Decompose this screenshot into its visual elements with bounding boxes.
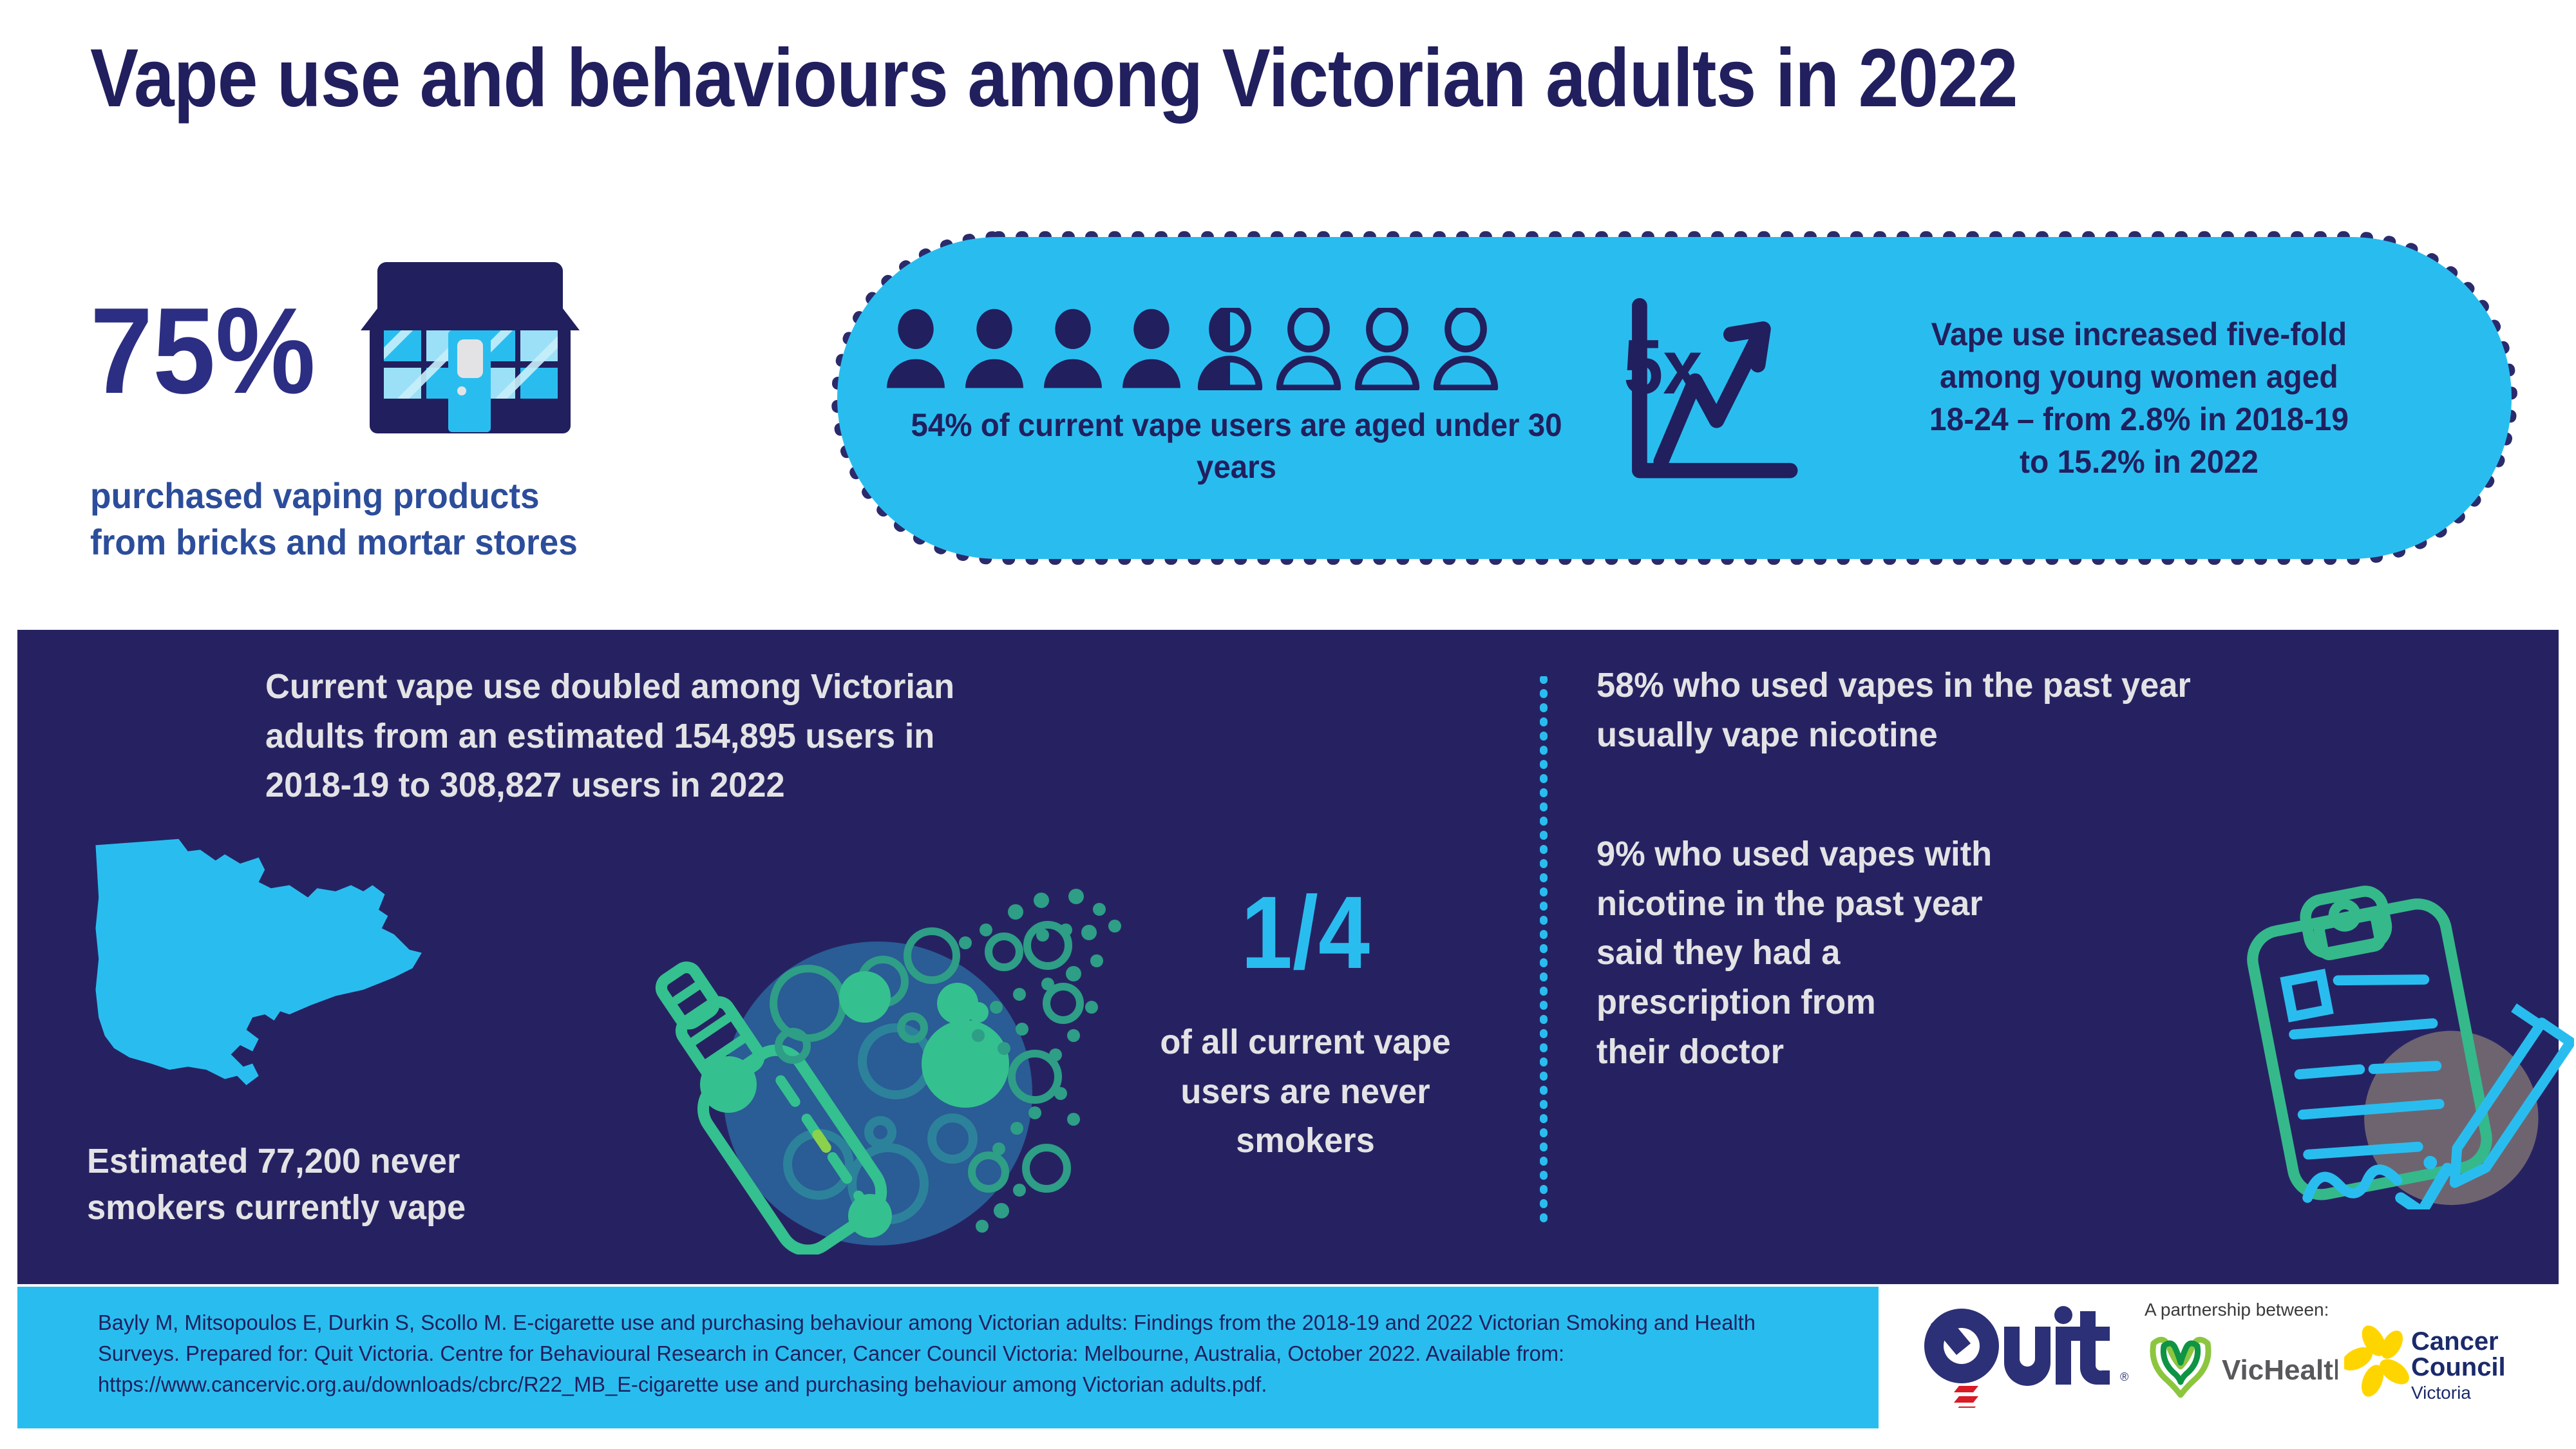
quarter-stat-block: 1/4 of all current vape users are never … bbox=[1074, 881, 1537, 1166]
person-icon-half-filled bbox=[1197, 308, 1264, 390]
rising-arrow-chart-icon: 5x bbox=[1623, 295, 1803, 501]
vichealth-wordmark: VicHealth bbox=[2222, 1354, 2338, 1386]
quarter-number: 1/4 bbox=[1097, 881, 1514, 984]
cancer-council-logo: Cancer Council Victoria bbox=[2344, 1321, 2557, 1405]
victoria-map-icon bbox=[85, 836, 562, 1113]
stat-75-block: 75% bbox=[90, 245, 799, 565]
person-icon-outline bbox=[1275, 308, 1342, 390]
person-icon-filled bbox=[961, 308, 1028, 390]
people-stat-block: 54% of current vape users are aged under… bbox=[837, 308, 1616, 488]
pill-panel: 54% of current vape users are aged under… bbox=[837, 237, 2512, 559]
vichealth-logo: VicHealth bbox=[2145, 1329, 2338, 1400]
five-x-label: 5x bbox=[1624, 325, 1702, 410]
stat-75-caption: purchased vaping products from bricks an… bbox=[90, 473, 763, 565]
column-divider bbox=[1539, 676, 1548, 1230]
ccv-line1: Cancer bbox=[2411, 1327, 2499, 1356]
panel-left-column: Current vape use doubled among Victorian… bbox=[17, 630, 1544, 1284]
prescription-stat: 9% who used vapes with nicotine in the p… bbox=[1596, 829, 2233, 1076]
partner-zone: A partnership between: VicHealth Cancer … bbox=[2145, 1300, 2563, 1419]
ccv-line2: Council bbox=[2411, 1353, 2506, 1381]
person-icon-filled bbox=[1039, 308, 1106, 390]
stat-75-number: 75% bbox=[90, 290, 316, 412]
person-icon-filled bbox=[882, 308, 949, 390]
person-icon-outline bbox=[1354, 308, 1421, 390]
people-icon-row bbox=[882, 308, 1616, 390]
never-smokers-text: Estimated 77,200 never smokers currently… bbox=[87, 1139, 649, 1231]
nicotine-stat: 58% who used vapes in the past year usua… bbox=[1596, 661, 2233, 759]
five-fold-chart-block: 5x bbox=[1616, 295, 1810, 501]
stat-75-row: 75% bbox=[90, 245, 799, 457]
person-icon-outline bbox=[1432, 308, 1499, 390]
people-caption: 54% of current vape users are aged under… bbox=[894, 404, 1579, 488]
citation-text: Bayly M, Mitsopoulos E, Durkin S, Scollo… bbox=[98, 1307, 1819, 1400]
infographic-canvas: Vape use and behaviours among Victorian … bbox=[0, 0, 2576, 1449]
quit-trademark: ® bbox=[2120, 1370, 2128, 1383]
panel-right-column: 58% who used vapes in the past year usua… bbox=[1582, 630, 2559, 1284]
five-fold-text: Vape use increased five-fold among young… bbox=[1824, 313, 2497, 483]
logo-zone: ® A partnership between: VicHealth Cance… bbox=[1906, 1287, 2576, 1428]
clipboard-prescription-icon bbox=[2239, 875, 2574, 1209]
partnership-label: A partnership between: bbox=[2145, 1300, 2329, 1320]
page-title: Vape use and behaviours among Victorian … bbox=[90, 37, 2018, 120]
person-icon-filled bbox=[1118, 308, 1185, 390]
quit-logo: ® bbox=[1919, 1305, 2132, 1408]
footer-citation-band: Bayly M, Mitsopoulos E, Durkin S, Scollo… bbox=[17, 1287, 1879, 1428]
quarter-caption: of all current vape users are never smok… bbox=[1081, 1018, 1530, 1166]
main-panel: Current vape use doubled among Victorian… bbox=[17, 630, 2559, 1284]
panel-headline: Current vape use doubled among Victorian… bbox=[265, 662, 1327, 810]
ccv-line3: Victoria bbox=[2411, 1383, 2471, 1403]
storefront-icon bbox=[361, 254, 580, 448]
